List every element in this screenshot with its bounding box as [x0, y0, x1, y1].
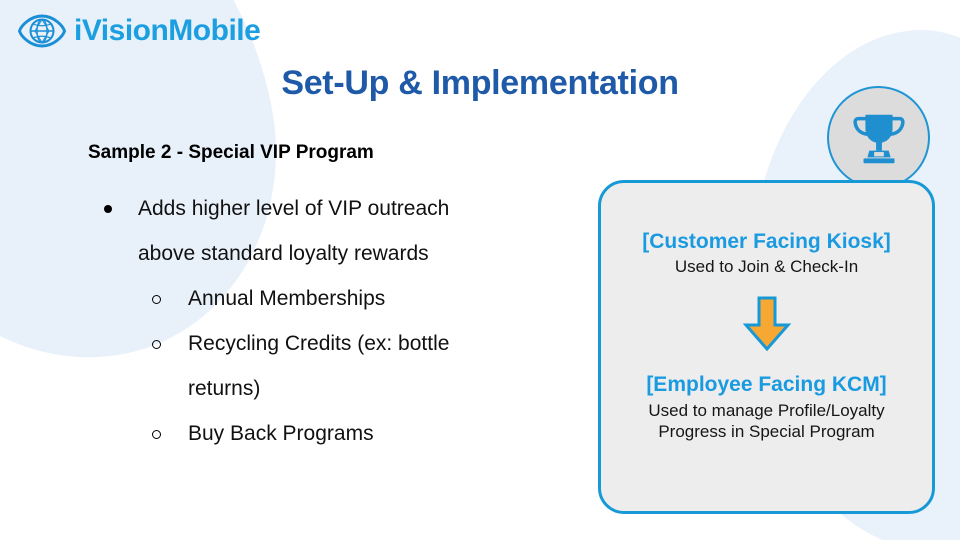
brand-logo: iVisionMobile — [18, 14, 260, 48]
hollow-bullet-icon — [152, 430, 161, 439]
filled-bullet-icon — [104, 205, 112, 213]
sub-bullet-text: Annual Memberships — [188, 287, 385, 310]
sub-bullet-text-wrap: returns) — [188, 377, 260, 400]
left-content-column: Sample 2 - Special VIP Program Adds high… — [88, 142, 558, 456]
list-item: Annual Memberships — [88, 276, 558, 321]
flow-step-customer-kiosk: [Customer Facing Kiosk] Used to Join & C… — [601, 230, 932, 277]
list-item: Recycling Credits (ex: bottle — [88, 321, 558, 366]
slide-canvas: iVisionMobile Set-Up & Implementation Sa… — [0, 0, 960, 540]
list-item-wrap: above standard loyalty rewards — [88, 231, 558, 276]
flow-diagram-panel: [Customer Facing Kiosk] Used to Join & C… — [598, 180, 935, 514]
trophy-icon — [848, 107, 910, 169]
flow-step-description: Used to Join & Check-In — [601, 256, 932, 277]
flow-step-heading: [Customer Facing Kiosk] — [601, 230, 932, 254]
flow-step-description-line-1: Used to manage Profile/Loyalty — [601, 400, 932, 421]
flow-step-employee-kcm: [Employee Facing KCM] Used to manage Pro… — [601, 373, 932, 442]
brand-name: iVisionMobile — [74, 16, 260, 46]
list-item: Adds higher level of VIP outreach — [88, 186, 558, 231]
hollow-bullet-icon — [152, 340, 161, 349]
down-arrow-icon — [741, 295, 793, 353]
trophy-badge — [827, 86, 930, 189]
sub-bullet-text: Recycling Credits (ex: bottle — [188, 332, 449, 355]
flow-step-description-line-2: Progress in Special Program — [601, 421, 932, 442]
section-subheading: Sample 2 - Special VIP Program — [88, 142, 558, 164]
list-item: Buy Back Programs — [88, 411, 558, 456]
page-title: Set-Up & Implementation — [0, 64, 960, 103]
bullet-text-line-1: Adds higher level of VIP outreach — [138, 197, 449, 220]
primary-bullet-list: Adds higher level of VIP outreach above … — [88, 186, 558, 276]
list-item-wrap: returns) — [88, 366, 558, 411]
sub-bullet-text: Buy Back Programs — [188, 422, 374, 445]
bullet-text-line-2: above standard loyalty rewards — [138, 242, 429, 265]
hollow-bullet-icon — [152, 295, 161, 304]
secondary-bullet-list: Annual Memberships Recycling Credits (ex… — [88, 276, 558, 456]
flow-step-heading: [Employee Facing KCM] — [601, 373, 932, 397]
eye-globe-icon — [18, 14, 66, 48]
